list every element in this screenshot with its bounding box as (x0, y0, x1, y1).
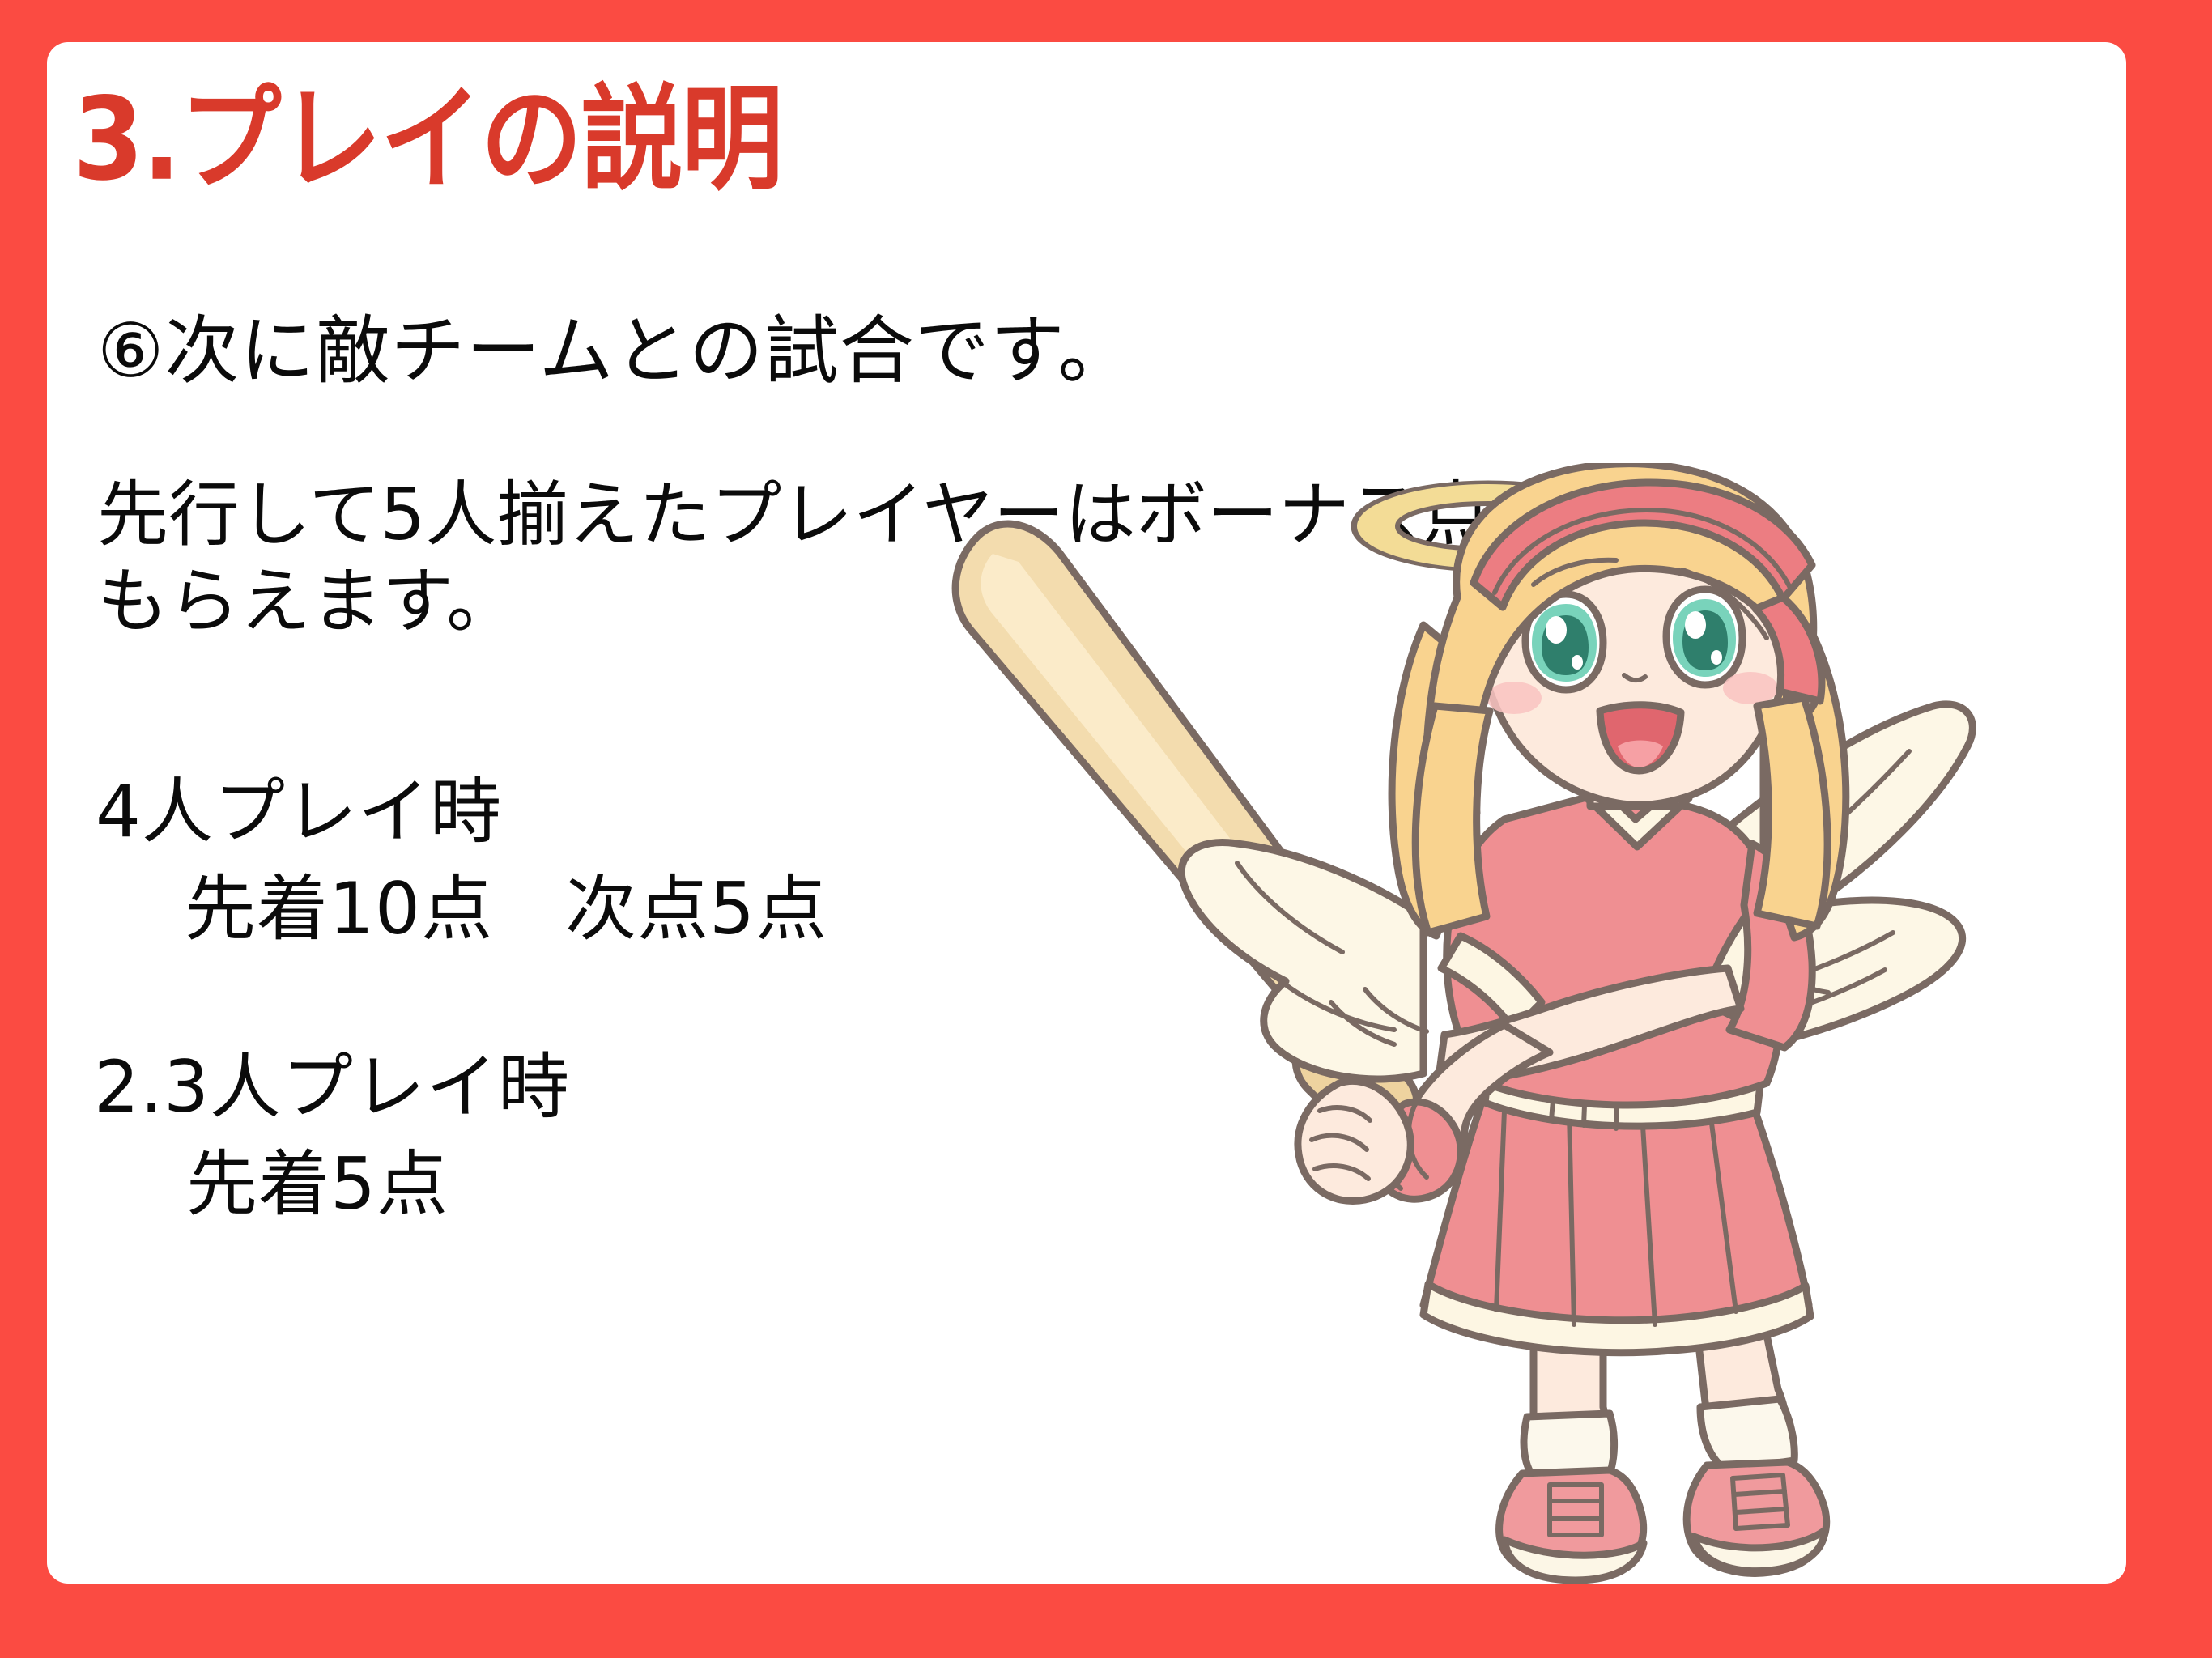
arms (1298, 968, 1741, 1201)
hair-back-right (1763, 633, 1846, 937)
angel-wings-icon (1181, 704, 1972, 1079)
skirt (1423, 1103, 1810, 1353)
section-heading-4players: 4人プレイ時 (96, 755, 502, 857)
belt (1485, 1062, 1762, 1129)
slide-card: 3.プレイの説明 ⑥次に敵チームとの試合です。 先行して5人揃えたプレイヤーはボ… (47, 42, 2126, 1584)
step-6-text: ⑥次に敵チームとの試合です。 (97, 309, 1134, 393)
hair-back-left (1392, 625, 1472, 936)
section-points-4players: 先着10点 次点5点 (185, 852, 827, 954)
section-points-23players: 先着5点 (186, 1127, 449, 1230)
neck (1590, 748, 1674, 806)
legs (1499, 1273, 1827, 1580)
bonus-rule-text: 先行して5人揃えたプレイヤーはボーナス点が もらえます。 (97, 471, 1563, 645)
jersey (1441, 789, 1812, 1105)
slide-root: 3.プレイの説明 ⑥次に敵チームとの試合です。 先行して5人揃えたプレイヤーはボ… (0, 0, 2212, 1658)
section-heading-23players: 2.3人プレイ時 (94, 1030, 570, 1133)
page-title: 3.プレイの説明 (73, 83, 782, 197)
